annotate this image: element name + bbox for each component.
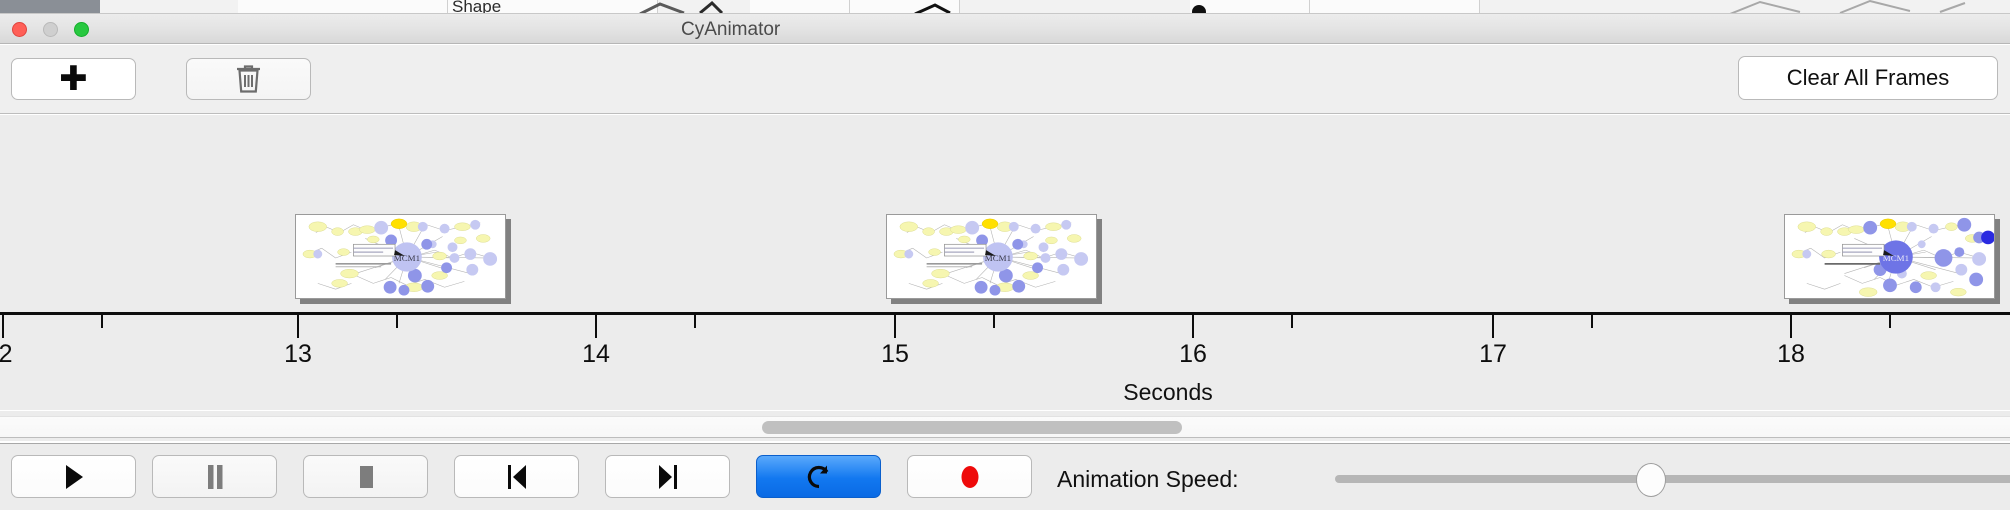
skip-backward-icon [505,464,529,490]
ruler-tick-minor [993,315,995,328]
record-circle-icon [958,464,982,490]
ruler-tick-major [297,315,299,338]
play-icon [63,464,85,490]
network-graph-preview: MCM1 [887,215,1096,298]
clear-all-frames-button[interactable]: Clear All Frames [1738,56,1998,100]
axis-caption: Seconds [1123,379,1213,406]
plus-icon: ✚ [59,62,88,96]
stop-icon [355,464,377,490]
ruler-tick-minor [1291,315,1293,328]
ruler-tick-minor [694,315,696,328]
clear-all-frames-label: Clear All Frames [1787,65,1950,91]
ruler-tick-major [1492,315,1494,338]
network-graph-preview: MCM1 [296,215,505,298]
ruler-tick-minor [1591,315,1593,328]
pause-button[interactable] [152,455,277,498]
window-title: CyAnimator [681,19,780,41]
timeline-panel[interactable]: 12131415161718 Seconds [0,115,2010,410]
trash-icon [235,64,262,94]
record-button[interactable] [907,455,1032,498]
add-frame-button[interactable]: ✚ [11,58,136,100]
timeline-content: 12131415161718 Seconds [0,115,2010,410]
ruler-tick-major [595,315,597,338]
minimize-icon[interactable] [43,22,58,37]
ruler-tick-label: 18 [1777,340,1805,369]
skip-forward-icon [656,464,680,490]
animation-speed-slider-track[interactable] [1335,475,2010,483]
close-icon[interactable] [12,22,27,37]
animation-speed-slider-thumb[interactable] [1636,463,1666,497]
loop-refresh-icon [806,463,832,491]
background-network-icon [0,0,2010,14]
stop-button[interactable] [303,455,428,498]
skip-to-end-button[interactable] [605,455,730,498]
ruler-tick-major [2,315,4,338]
window-titlebar[interactable]: CyAnimator [0,14,2010,44]
background-app-strip: Shape [0,0,2010,14]
loop-button[interactable] [756,455,881,498]
timeline-scrollbar[interactable] [0,411,2010,441]
ruler-tick-label: 13 [284,340,312,369]
timeline-ruler-line [0,312,2010,315]
ruler-tick-major [1192,315,1194,338]
timeline-scrollbar-thumb[interactable] [762,421,1182,434]
delete-frame-button[interactable] [186,58,311,100]
ruler-tick-major [894,315,896,338]
animation-speed-label: Animation Speed: [1057,466,1239,493]
ruler-tick-label: 12 [0,340,13,369]
ruler-tick-minor [396,315,398,328]
frame-thumbnail-3[interactable]: MCM1 [1784,214,1995,299]
ruler-tick-minor [1889,315,1891,328]
ruler-tick-minor [101,315,103,328]
frame-toolbar: ✚ Clear All Frames [0,45,2010,114]
frame-thumbnail-1[interactable]: MCM1 [295,214,506,299]
maximize-icon[interactable] [74,22,89,37]
ruler-tick-label: 17 [1479,340,1507,369]
network-graph-preview: MCM1 [1785,215,1994,298]
skip-to-start-button[interactable] [454,455,579,498]
play-button[interactable] [11,455,136,498]
cyanimator-window: Shape CyAnimator ✚ Clear A [0,0,2010,510]
ruler-tick-label: 14 [582,340,610,369]
ruler-tick-major [1790,315,1792,338]
frame-thumbnail-2[interactable]: MCM1 [886,214,1097,299]
ruler-tick-label: 15 [881,340,909,369]
pause-icon [204,464,226,490]
ruler-tick-label: 16 [1179,340,1207,369]
